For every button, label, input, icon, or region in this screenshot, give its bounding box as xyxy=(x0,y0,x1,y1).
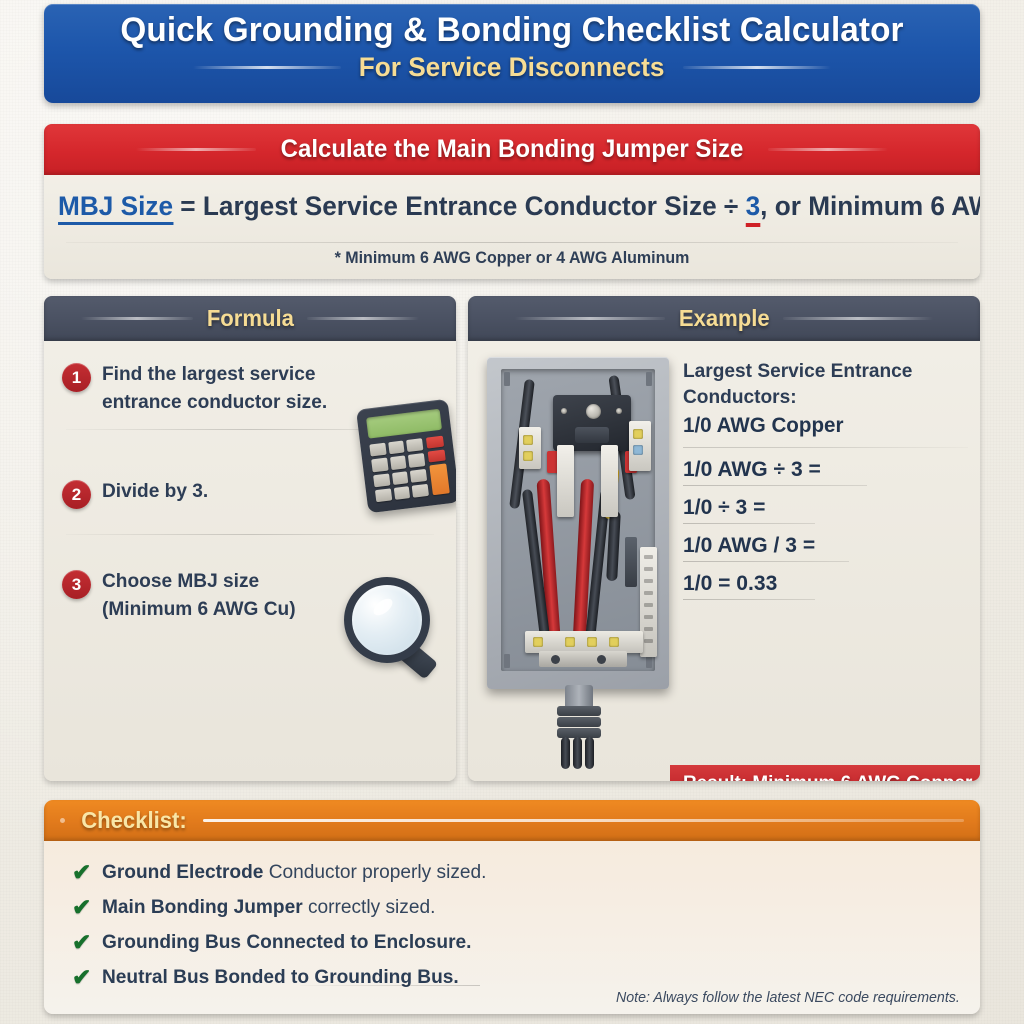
calc-line-row: 1/0 = 0.33 xyxy=(683,562,968,600)
example-panel-header: Example xyxy=(468,296,980,341)
step-number-badge: 2 xyxy=(62,480,91,509)
calc-line-row: 1/0 AWG ÷ 3 = xyxy=(683,448,968,486)
checklist-item-rest: correctly sized. xyxy=(303,896,436,918)
mbj-banner-body: MBJ Size = Largest Service Entrance Cond… xyxy=(44,175,980,279)
example-values-column: Largest Service Entrance Conductors: 1/0… xyxy=(683,359,968,600)
formula-panel: Formula 1 Find the largest service entra… xyxy=(44,296,456,781)
check-icon: ✔ xyxy=(72,861,91,884)
calc-line: 1/0 AWG / 3 = xyxy=(683,524,962,561)
checklist-item[interactable]: ✔ Grounding Bus Connected to Enclosure. xyxy=(72,925,495,960)
mbj-rule-right xyxy=(768,148,888,151)
checklist-item-bold: Ground Electrode xyxy=(102,861,263,883)
calc-line: 1/0 ÷ 3 = xyxy=(683,486,962,523)
check-icon: ✔ xyxy=(72,931,91,954)
result-text: Result: Minimum 6 AWG Copper xyxy=(683,772,972,782)
header-subtitle-row: For Service Disconnects xyxy=(44,52,980,83)
formula-panel-title: Formula xyxy=(206,305,293,332)
nec-note: Note: Always follow the latest NEC code … xyxy=(616,990,960,1006)
result-badge: Result: Minimum 6 AWG Copper xyxy=(670,765,980,781)
calc-line-row: 1/0 ÷ 3 = xyxy=(683,486,968,524)
checklist-item-bold: Grounding Bus Connected to Enclosure. xyxy=(102,931,471,953)
calc-line: 1/0 = 0.33 xyxy=(683,562,962,599)
mbj-formula-mid: = Largest Service Entrance Conductor Siz… xyxy=(173,191,746,221)
checklist-item-bold: Main Bonding Jumper xyxy=(102,896,303,918)
example-rule-right xyxy=(783,317,933,320)
checklist-item-text: Main Bonding Jumper correctly sized. xyxy=(102,896,435,919)
service-disconnect-illustration xyxy=(481,355,677,767)
calc-line-row: 1/0 AWG / 3 = xyxy=(683,524,968,562)
conductors-value: 1/0 AWG Copper xyxy=(683,414,962,438)
mbj-banner-title: Calculate the Main Bonding Jumper Size xyxy=(281,135,744,164)
mbj-formula-divisor: 3 xyxy=(746,191,761,227)
checklist-item-text: Grounding Bus Connected to Enclosure. xyxy=(102,931,471,954)
mbj-footnote: * Minimum 6 AWG Copper or 4 AWG Aluminum xyxy=(58,249,966,268)
checklist-bullet-dot xyxy=(60,818,65,823)
checklist-item[interactable]: ✔ Main Bonding Jumper correctly sized. xyxy=(72,890,495,925)
calculator-icon xyxy=(356,399,456,513)
formula-rule-left xyxy=(81,317,193,320)
mbj-rule-left xyxy=(136,148,256,151)
check-icon: ✔ xyxy=(72,896,91,919)
step-number-badge: 3 xyxy=(62,570,91,599)
formula-panel-header: Formula xyxy=(44,296,456,341)
step-text: Find the largest service entrance conduc… xyxy=(102,361,327,416)
infographic-page: Quick Grounding & Bonding Checklist Calc… xyxy=(0,0,1024,1024)
checklist-title: Checklist: xyxy=(81,807,187,834)
mbj-divider xyxy=(66,242,958,243)
checklist-item-rest: Conductor properly sized. xyxy=(264,861,487,883)
mbj-formula-prefix: MBJ Size xyxy=(58,191,173,225)
checklist-header: Checklist: xyxy=(44,800,980,841)
mbj-banner-header: Calculate the Main Bonding Jumper Size xyxy=(44,124,980,175)
example-panel-body: Largest Service Entrance Conductors: 1/0… xyxy=(468,341,980,781)
page-subtitle: For Service Disconnects xyxy=(359,52,665,83)
example-panel: Example xyxy=(468,296,980,781)
conductors-label: Largest Service Entrance Conductors: xyxy=(683,359,962,410)
example-panel-title: Example xyxy=(679,305,770,332)
checklist-items: ✔ Ground Electrode Conductor properly si… xyxy=(72,855,495,995)
checklist-item-text: Ground Electrode Conductor properly size… xyxy=(102,861,486,884)
checklist-item[interactable]: ✔ Ground Electrode Conductor properly si… xyxy=(72,855,495,890)
formula-rule-right xyxy=(307,317,419,320)
example-rule-left xyxy=(515,317,665,320)
calc-line: 1/0 AWG ÷ 3 = xyxy=(683,448,962,485)
header-rule-left xyxy=(193,66,341,69)
header-banner: Quick Grounding & Bonding Checklist Calc… xyxy=(44,4,980,103)
step-separator-2 xyxy=(66,534,434,535)
magnifier-icon xyxy=(340,573,448,681)
mbj-formula-card: Calculate the Main Bonding Jumper Size M… xyxy=(44,124,980,279)
step-number-badge: 1 xyxy=(62,363,91,392)
note-rule xyxy=(300,985,480,986)
page-title: Quick Grounding & Bonding Checklist Calc… xyxy=(60,11,963,50)
calc-line-rule xyxy=(683,599,815,600)
checklist-item[interactable]: ✔ Neutral Bus Bonded to Grounding Bus. xyxy=(72,960,495,995)
checklist-header-rule xyxy=(203,819,964,822)
mbj-formula-expression: MBJ Size = Largest Service Entrance Cond… xyxy=(58,191,966,222)
header-rule-right xyxy=(683,66,831,69)
step-text: Divide by 3. xyxy=(102,478,208,506)
formula-panel-body: 1 Find the largest service entrance cond… xyxy=(44,341,456,781)
mbj-formula-suffix: , or Minimum 6 AWG* xyxy=(760,191,980,221)
checklist-card: Checklist: ✔ Ground Electrode Conductor … xyxy=(44,800,980,1014)
check-icon: ✔ xyxy=(72,966,91,989)
step-text: Choose MBJ size (Minimum 6 AWG Cu) xyxy=(102,568,298,623)
